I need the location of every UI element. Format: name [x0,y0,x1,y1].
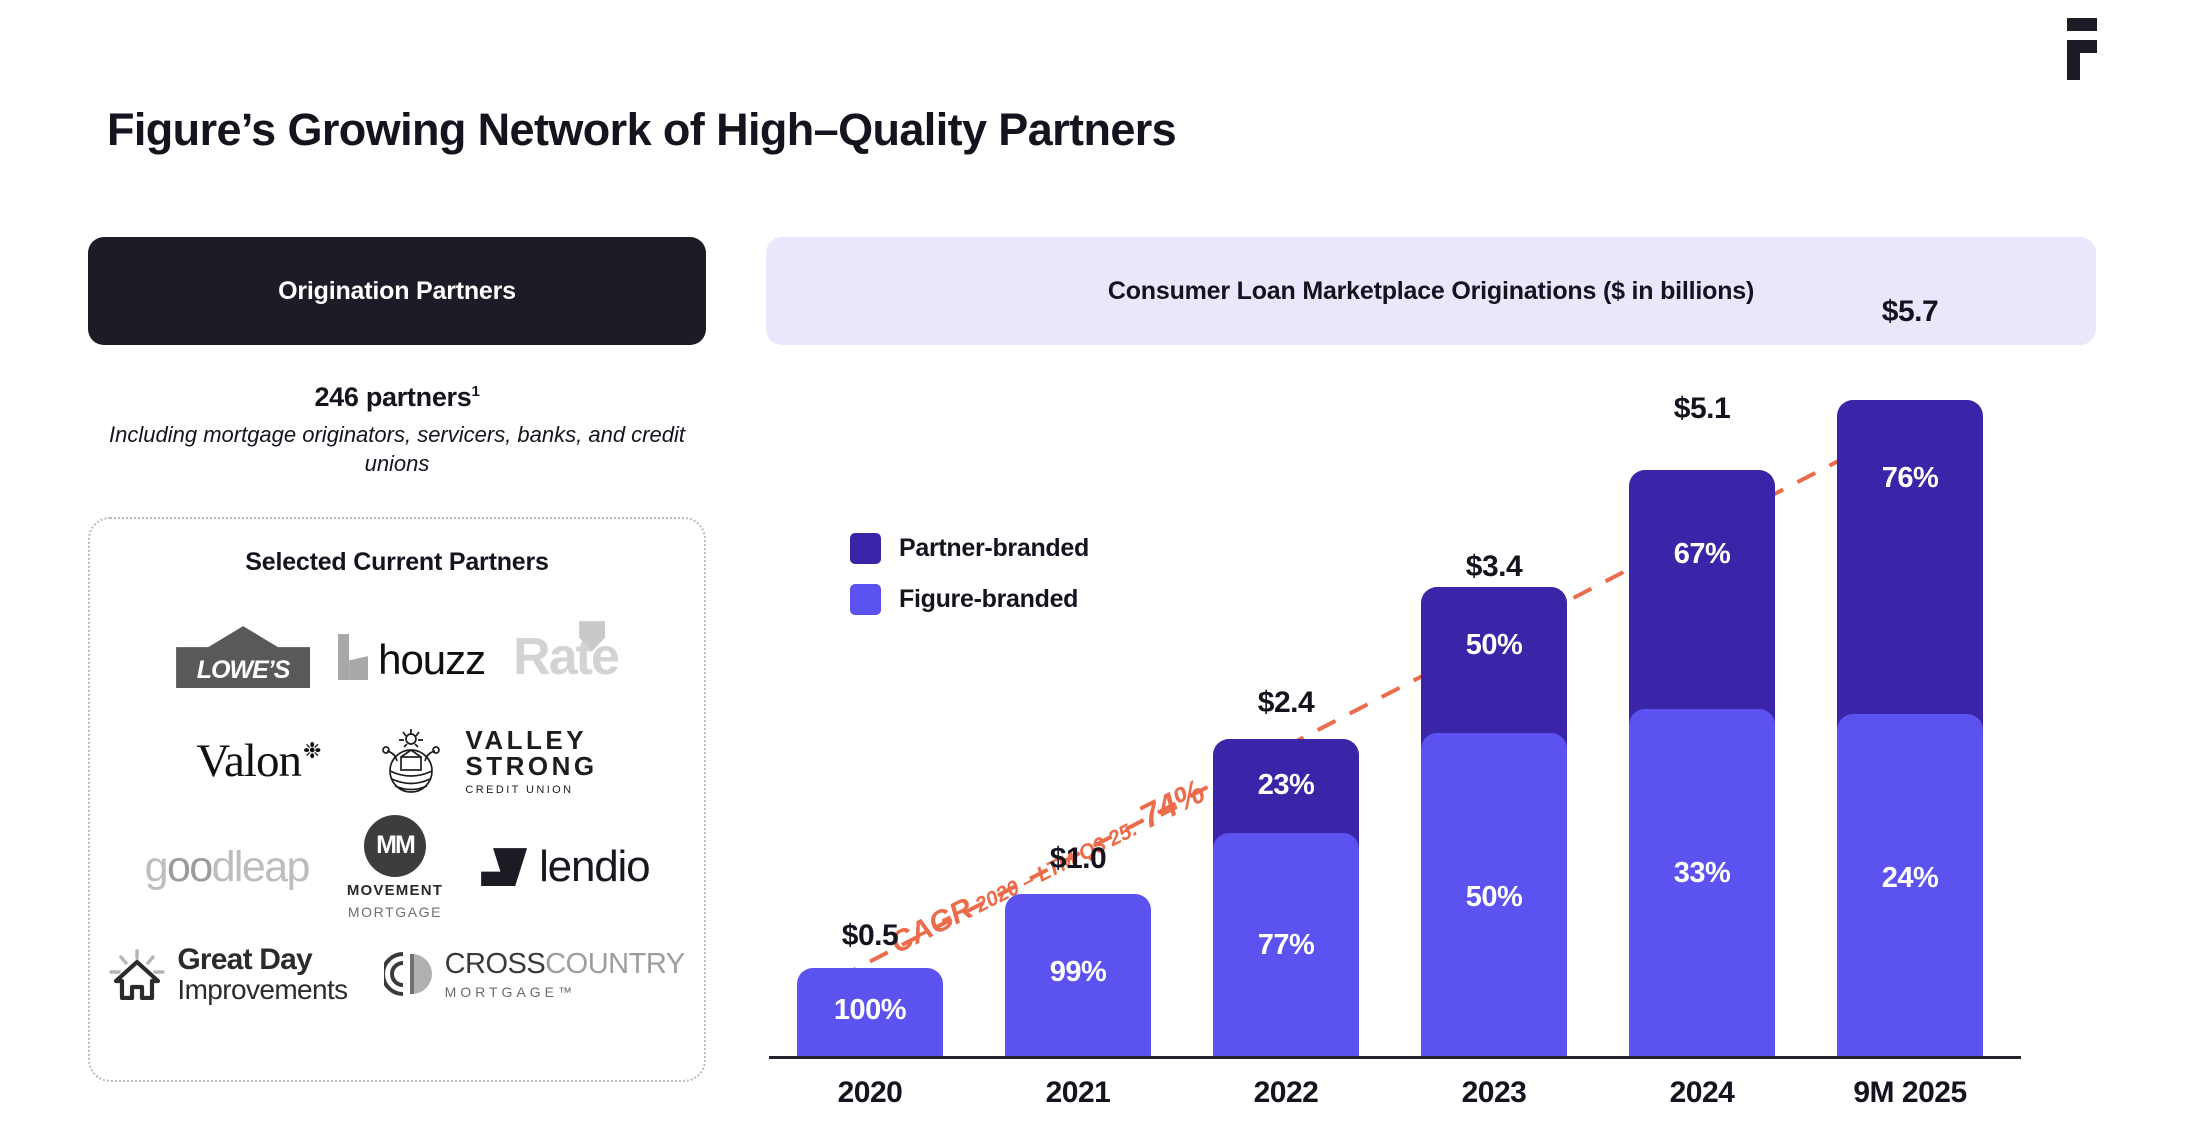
bar-pct-partner-branded-2022: 23% [1258,769,1315,802]
lendio-wordmark: lendio [539,842,649,892]
origination-partners-header-label: Origination Partners [278,277,516,306]
bar-pct-figure-branded-2022: 77% [1258,929,1315,962]
partner-logo-lendio: lendio [481,842,649,892]
crosscountry-line1-a: CROSS [445,948,546,980]
x-tick-2020: 2020 [766,1063,974,1123]
bar-stack-9m-2025: 76% 24% [1837,400,1983,1056]
originations-chart-header-label: Consumer Loan Marketplace Originations (… [1108,277,1754,306]
bar-segment-figure-branded-9m-2025[interactable]: 24% [1837,714,1983,1056]
bar-stack-2021: 99% [1005,894,1151,1056]
x-tick-2021: 2021 [974,1063,1182,1123]
partner-subtitle: Including mortgage originators, servicer… [88,420,706,478]
lendio-mark-icon [481,848,527,886]
originations-chart-column: Consumer Loan Marketplace Originations (… [766,237,2096,1123]
houzz-mark-icon [338,634,368,680]
bar-group-2021[interactable]: $1.0 99% [974,894,1182,1056]
partner-logo-movement-mortgage: MM MOVEMENT MORTGAGE [347,815,443,920]
bar-total-label-2024: $5.1 [1598,392,1806,426]
bar-group-9m-2025[interactable]: $5.7 76% 24% [1806,400,2014,1056]
goodleap-wordmark-b: oo [167,843,212,891]
crosscountry-line1-b: COUNTRY [545,948,684,980]
partner-logo-goodleap: goodleap [145,843,309,892]
partner-logo-houzz: houzz [338,634,485,680]
partner-logo-great-day: Great Day Improvements [109,944,347,1005]
partner-logo-row: goodleap MM MOVEMENT MORTGAGE lendio [90,813,704,921]
chart-bars: $0.5 100% $1.0 99% [766,366,2096,1056]
bar-segment-figure-branded-2023[interactable]: 50% [1421,733,1567,1056]
bar-total-label-2022: $2.4 [1182,686,1390,720]
chart-baseline [769,1056,2021,1059]
partner-count-footnote: 1 [471,383,479,400]
great-day-line2: Improvements [177,975,347,1004]
partner-logo-crosscountry: CROSSCOUNTRY MORTGAGE™ [384,949,685,999]
crosscountry-mark-icon [384,949,432,999]
bar-stack-2022: 23% 77% [1213,739,1359,1056]
bar-stack-2023: 50% 50% [1421,587,1567,1056]
partner-logo-valon: Valon ❉ [196,734,321,788]
bar-total-label-2020: $0.5 [766,919,974,953]
bar-pct-partner-branded-9m-2025: 76% [1882,462,1939,495]
bar-segment-figure-branded-2020[interactable]: 100% [797,968,943,1056]
bar-segment-figure-branded-2024[interactable]: 33% [1629,709,1775,1056]
bar-total-label-2023: $3.4 [1390,550,1598,584]
movement-line1: MOVEMENT [347,882,443,899]
movement-monogram-icon: MM [364,815,426,877]
bar-stack-2024: 67% 33% [1629,470,1775,1056]
bar-group-2023[interactable]: $3.4 50% 50% [1390,587,1598,1056]
x-tick-2023: 2023 [1390,1063,1598,1123]
bar-segment-partner-branded-2023[interactable]: 50% [1421,587,1567,749]
partner-logo-row: LOWE’S houzz Rate [90,605,704,709]
origination-partners-header: Origination Partners [88,237,706,345]
bar-segment-partner-branded-9m-2025[interactable]: 76% [1837,400,1983,730]
bar-pct-figure-branded-2020: 100% [834,994,906,1027]
selected-partners-title: Selected Current Partners [90,548,704,577]
great-day-line1: Great Day [177,944,347,976]
partner-logo-valley-strong: VALLEY STRONG CREDIT UNION [375,727,597,796]
bar-segment-figure-branded-2021[interactable]: 99% [1005,894,1151,1056]
bar-segment-figure-branded-2022[interactable]: 77% [1213,833,1359,1056]
houzz-wordmark: houzz [378,640,485,680]
valley-strong-line3: CREDIT UNION [465,785,597,796]
goodleap-wordmark-c: dleap [212,843,309,891]
crosscountry-line2: MORTGAGE™ [445,985,685,999]
slide-root: Figure’s Growing Network of High–Quality… [0,0,2191,1147]
bar-pct-partner-branded-2024: 67% [1674,538,1731,571]
valon-asterisk-icon: ❉ [303,740,321,762]
movement-line2: MORTGAGE [348,904,442,920]
valley-strong-line1: VALLEY [465,727,597,753]
great-day-house-icon [109,948,165,1000]
selected-partners-card: Selected Current Partners LOWE’S houzz [88,517,706,1082]
x-tick-2022: 2022 [1182,1063,1390,1123]
chart-plot-area: $0.5 100% $1.0 99% [766,359,2096,1059]
partner-logo-row: Valon ❉ [90,709,704,813]
valon-wordmark: Valon [196,734,301,788]
lowes-wordmark: LOWE’S [176,656,310,685]
figure-f-logo-icon [2059,18,2105,80]
chart-x-axis: 2020 2021 2022 2023 2024 9M 2025 [766,1063,2096,1123]
partner-logo-lowes: LOWE’S [176,626,310,688]
partner-logo-row: Great Day Improvements [90,921,704,1027]
bar-group-2020[interactable]: $0.5 100% [766,968,974,1056]
partner-logo-rate: Rate [513,627,618,687]
bar-total-label-2021: $1.0 [974,842,1182,876]
page-title: Figure’s Growing Network of High–Quality… [107,104,1176,156]
bar-pct-partner-branded-2023: 50% [1466,629,1523,662]
x-tick-2024: 2024 [1598,1063,1806,1123]
bar-segment-partner-branded-2024[interactable]: 67% [1629,470,1775,725]
goodleap-wordmark-a: g [145,843,167,891]
partner-count: 246 partners1 [88,382,706,413]
originations-bar-chart: Partner-branded Figure-branded CAGR 2020… [766,363,2096,1123]
partner-count-value: 246 partners [314,382,471,412]
valley-strong-line2: STRONG [465,753,597,779]
bar-pct-figure-branded-9m-2025: 24% [1882,862,1939,895]
bar-stack-2020: 100% [797,968,943,1056]
bar-pct-figure-branded-2021: 99% [1050,956,1107,989]
bar-total-label-9m-2025: $5.7 [1806,295,2014,329]
bar-pct-figure-branded-2024: 33% [1674,857,1731,890]
origination-partners-column: Origination Partners 246 partners1 Inclu… [88,237,706,1082]
bar-group-2024[interactable]: $5.1 67% 33% [1598,470,1806,1056]
valley-strong-emblem-icon [375,727,447,795]
bar-group-2022[interactable]: $2.4 23% 77% [1182,739,1390,1056]
x-tick-9m-2025: 9M 2025 [1806,1063,2014,1123]
bar-pct-figure-branded-2023: 50% [1466,881,1523,914]
